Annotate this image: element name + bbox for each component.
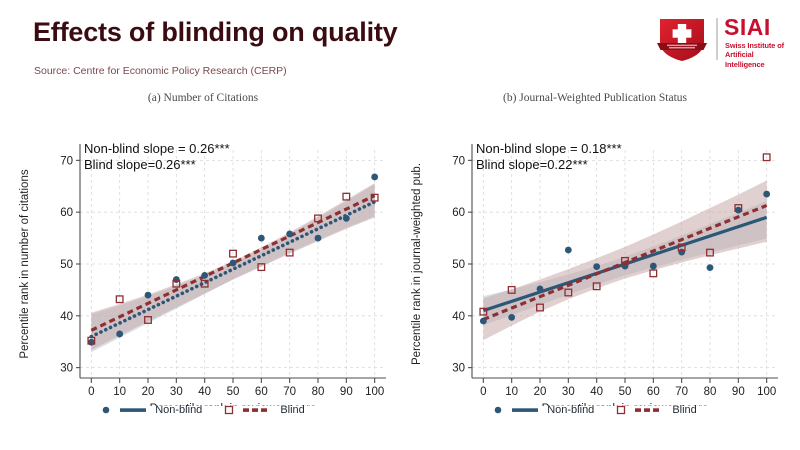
svg-text:40: 40 [590,386,603,398]
swiss-cross-shield-icon [656,16,708,62]
source-subtitle: Source: Centre for Economic Policy Resea… [34,65,287,77]
svg-text:70: 70 [283,386,296,398]
svg-text:Non-blind slope = 0.26***: Non-blind slope = 0.26*** [84,141,230,156]
svg-text:90: 90 [340,386,353,398]
legend-blind-marker-icon [224,405,234,415]
svg-text:70: 70 [60,155,73,167]
chart-panel-publication: (b) Journal-Weighted Publication Status … [400,92,790,442]
svg-text:70: 70 [675,386,688,398]
svg-text:60: 60 [60,207,73,219]
logo-tagline-line1: Swiss Institute of [725,41,788,50]
logo-divider [716,18,718,60]
svg-text:80: 80 [704,386,717,398]
legend-blind-line-icon [635,405,663,415]
panel-b-caption: (b) Journal-Weighted Publication Status [400,92,790,104]
panel-a-caption: (a) Number of Citations [8,92,398,104]
svg-text:10: 10 [505,386,518,398]
legend-blind-line-icon [243,405,271,415]
svg-text:60: 60 [255,386,268,398]
svg-text:20: 20 [534,386,547,398]
svg-text:Blind slope=0.26***: Blind slope=0.26*** [84,157,196,172]
svg-text:Percentile rank in number of c: Percentile rank in number of citations [19,169,31,358]
legend-nonblind-marker-icon [493,405,503,415]
svg-text:10: 10 [113,386,126,398]
svg-text:100: 100 [365,386,384,398]
slide: Effects of blinding on quality Source: C… [0,0,800,450]
legend-blind-marker-icon [616,405,626,415]
legend-nonblind-label: Non-blind [547,404,594,416]
svg-text:20: 20 [142,386,155,398]
svg-text:50: 50 [60,259,73,271]
legend-blind-label: Blind [672,404,696,416]
svg-text:100: 100 [757,386,776,398]
svg-text:90: 90 [732,386,745,398]
svg-text:50: 50 [619,386,632,398]
svg-text:50: 50 [227,386,240,398]
scatter-plot-citations: 30405060700102030405060708090100Percenti… [8,106,398,406]
svg-text:0: 0 [480,386,486,398]
page-title: Effects of blinding on quality [33,17,398,48]
svg-text:30: 30 [452,363,465,375]
logo-tagline-line2: Artificial Intelligence [725,50,788,69]
svg-text:0: 0 [88,386,94,398]
scatter-plot-publication: 30405060700102030405060708090100Percenti… [400,106,790,406]
legend-nonblind-line-icon [512,405,538,415]
svg-text:70: 70 [452,155,465,167]
svg-text:40: 40 [60,311,73,323]
svg-text:Percentile rank in journal-wei: Percentile rank in journal-weighted pub. [411,163,423,365]
legend-panel-a: Non-blind Blind [8,404,398,416]
svg-text:40: 40 [452,311,465,323]
svg-text:80: 80 [312,386,325,398]
svg-text:Blind slope=0.22***: Blind slope=0.22*** [476,157,588,172]
logo-tagline: Swiss Institute of Artificial Intelligen… [725,41,788,69]
siai-logo: SIAI Swiss Institute of Artificial Intel… [648,14,788,64]
chart-panel-citations: (a) Number of Citations 3040506070010203… [8,92,398,442]
legend-panel-b: Non-blind Blind [400,404,790,416]
legend-nonblind-label: Non-blind [155,404,202,416]
svg-text:Non-blind slope = 0.18***: Non-blind slope = 0.18*** [476,141,622,156]
legend-blind-label: Blind [280,404,304,416]
svg-text:30: 30 [170,386,183,398]
legend-nonblind-marker-icon [101,405,111,415]
svg-text:60: 60 [452,207,465,219]
svg-text:50: 50 [452,259,465,271]
svg-text:40: 40 [198,386,211,398]
svg-text:60: 60 [647,386,660,398]
svg-text:30: 30 [60,363,73,375]
svg-text:30: 30 [562,386,575,398]
logo-acronym: SIAI [724,16,771,39]
legend-nonblind-line-icon [120,405,146,415]
